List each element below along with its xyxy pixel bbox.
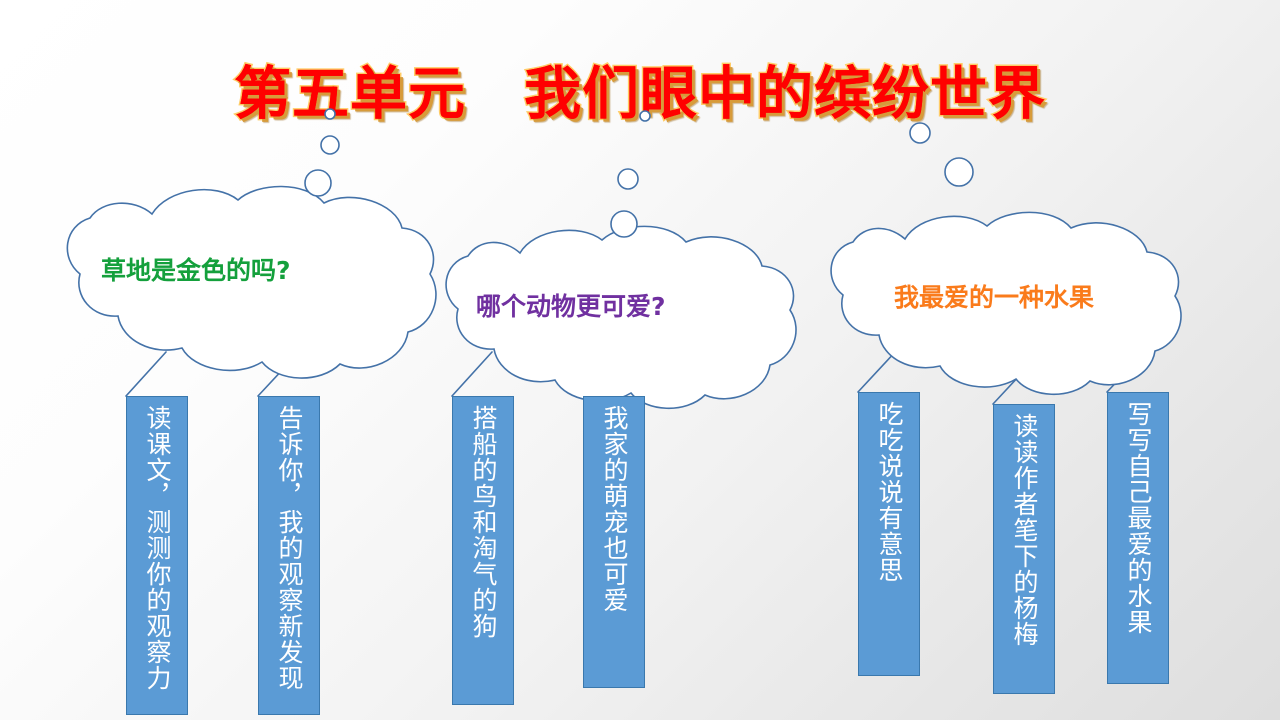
presentation-slide: 第五单元 我们眼中的缤纷世界 第五单元 我们眼中的缤纷世界 [0, 0, 1280, 720]
topic-bar-read-text[interactable]: 读课文，测测你的观察力 [126, 396, 188, 715]
topic-bar-label: 读课文，测测你的观察力 [144, 405, 170, 691]
connector-line-3 [452, 352, 492, 396]
thought-bubble-2b [611, 211, 637, 237]
topic-bar-write-favorite-fruit[interactable]: 写写自己最爱的水果 [1107, 392, 1169, 684]
topic-bar-label: 搭船的鸟和淘气的狗 [470, 405, 496, 639]
connector-line-1 [126, 352, 166, 396]
cloud-label-3: 我最爱的一种水果 [894, 278, 1094, 314]
topic-bar-eat-and-talk[interactable]: 吃吃说说有意思 [858, 392, 920, 676]
thought-bubble-3b [945, 158, 973, 186]
thought-bubble-1b [305, 170, 331, 196]
topic-bar-label: 写写自己最爱的水果 [1125, 401, 1151, 635]
thought-bubble-2c [618, 169, 638, 189]
topic-bar-label: 告诉你，我的观察新发现 [276, 405, 302, 691]
cloud-shape-2 [446, 111, 796, 408]
cloud-label-2: 哪个动物更可爱? [476, 287, 666, 323]
thought-bubble-3c [910, 123, 930, 143]
topic-bar-label: 读读作者笔下的杨梅 [1011, 413, 1037, 647]
cloud-shape-3 [831, 123, 1181, 394]
thought-bubble-2d [640, 111, 650, 121]
topic-bar-bird-and-dog[interactable]: 搭船的鸟和淘气的狗 [452, 396, 514, 705]
thought-bubble-1c [321, 136, 339, 154]
topic-bar-my-pet[interactable]: 我家的萌宠也可爱 [583, 396, 645, 688]
cloud-shape-1 [67, 109, 436, 378]
topic-bar-label: 我家的萌宠也可爱 [601, 405, 627, 613]
topic-bar-label: 吃吃说说有意思 [876, 401, 902, 583]
thought-bubble-1d [325, 109, 335, 119]
topic-bar-tell-discovery[interactable]: 告诉你，我的观察新发现 [258, 396, 320, 715]
topic-bar-read-author-bayberry[interactable]: 读读作者笔下的杨梅 [993, 404, 1055, 694]
cloud-label-1: 草地是金色的吗? [101, 251, 291, 287]
